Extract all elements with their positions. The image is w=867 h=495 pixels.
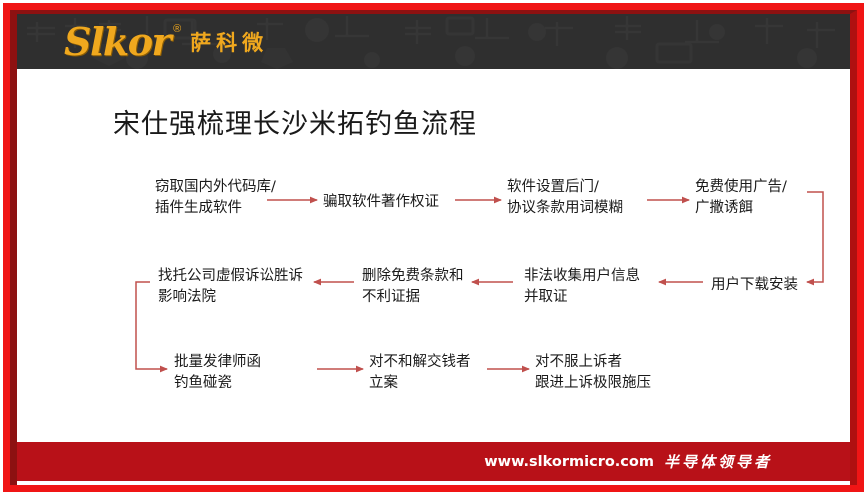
slide-root: Slkor ® 萨科微 宋仕强梳理长沙米拓钓鱼流程 (0, 0, 867, 495)
flow-node-backdoor-terms[interactable]: 软件设置后门/ 协议条款用词模糊 (507, 177, 623, 218)
flow-node-fraud-copyright[interactable]: 骗取软件著作权证 (323, 192, 439, 213)
flow-node-user-download[interactable]: 用户下载安装 (711, 275, 798, 296)
flow-node-bulk-letters[interactable]: 批量发律师函 钓鱼碰瓷 (174, 352, 261, 393)
flow-node-fake-lawsuit[interactable]: 找托公司虚假诉讼胜诉 影响法院 (158, 266, 303, 307)
flow-node-file-case[interactable]: 对不和解交钱者 立案 (369, 352, 471, 393)
flow-node-free-ads-bait[interactable]: 免费使用广告/ 广撒诱餌 (695, 177, 787, 218)
flowchart-connectors (17, 14, 850, 481)
footer-bar: www.slkormicro.com 半导体领导者 (17, 442, 850, 481)
flowchart: 窃取国内外代码库/ 插件生成软件 骗取软件著作权证 软件设置后门/ 协议条款用词… (17, 14, 850, 481)
flow-node-appeal-pressure[interactable]: 对不服上诉者 跟进上诉极限施压 (535, 352, 651, 393)
flow-node-collect-info[interactable]: 非法收集用户信息 并取证 (524, 266, 640, 307)
edge-n4-n5 (807, 192, 823, 282)
footer-website-url[interactable]: www.slkormicro.com (484, 454, 654, 470)
flow-node-steal-code[interactable]: 窃取国内外代码库/ 插件生成软件 (155, 177, 276, 218)
footer-slogan: 半导体领导者 (664, 451, 772, 472)
flow-node-delete-terms[interactable]: 删除免费条款和 不利证据 (362, 266, 464, 307)
slide-canvas: Slkor ® 萨科微 宋仕强梳理长沙米拓钓鱼流程 (17, 14, 850, 481)
